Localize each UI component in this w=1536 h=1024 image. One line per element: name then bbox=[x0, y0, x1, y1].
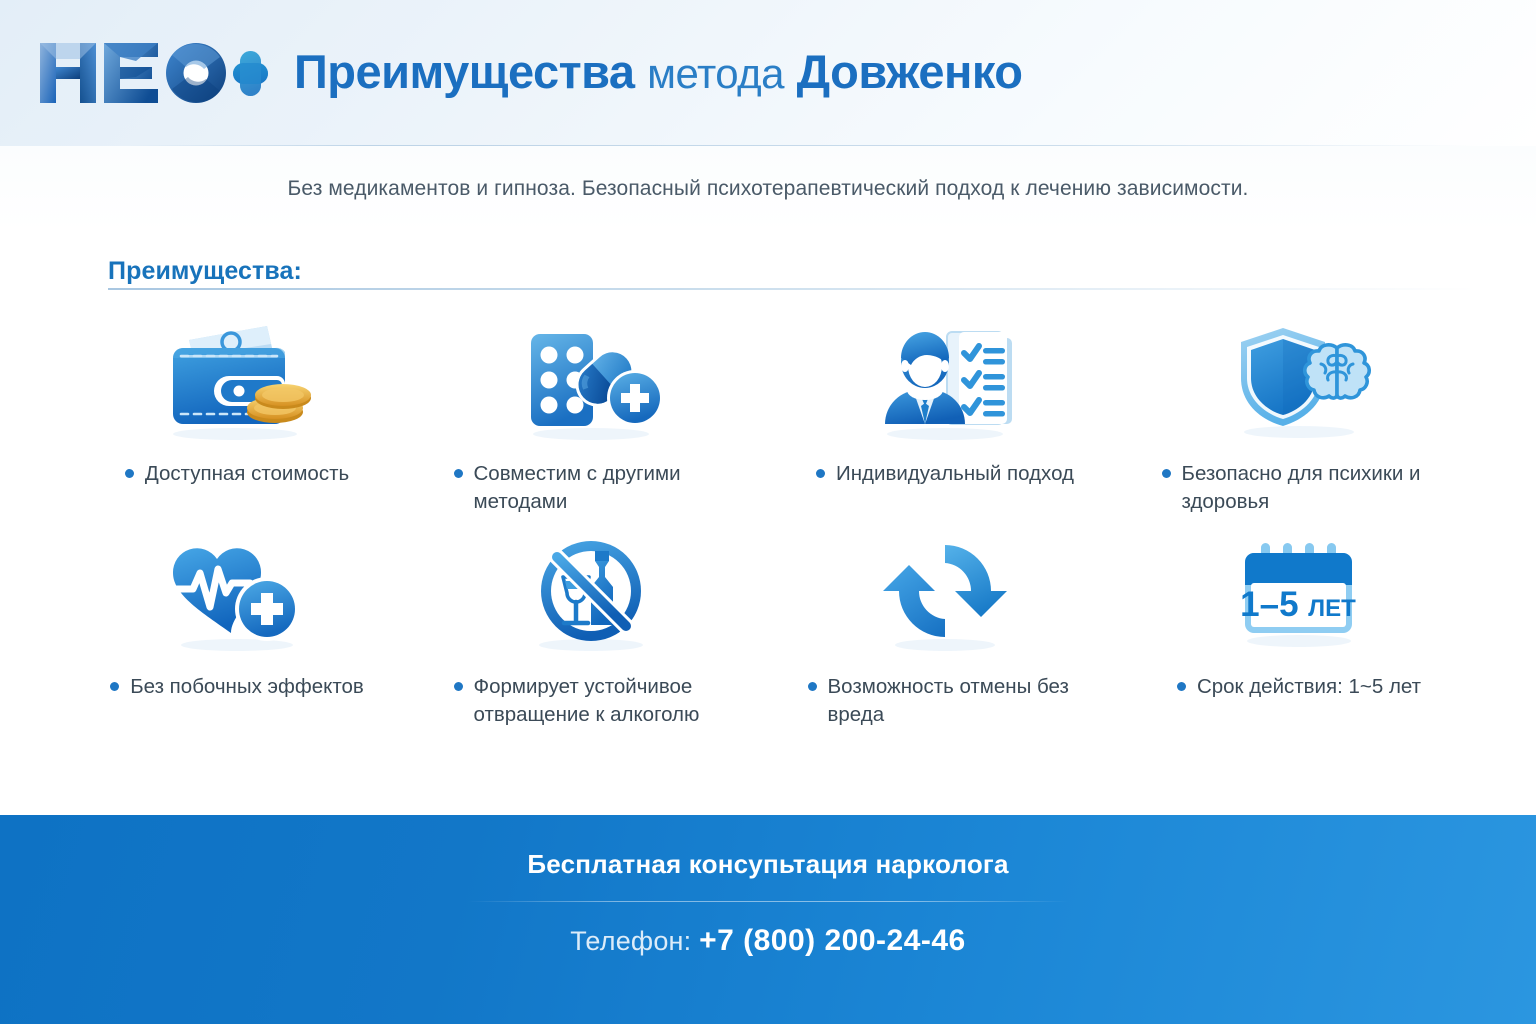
footer-divider bbox=[468, 901, 1068, 902]
benefit-text: Доступная стоимость bbox=[145, 460, 349, 488]
benefit-icon-wrap bbox=[863, 316, 1028, 448]
subtitle-text: Без медикаментов и гипноза. Безопасный п… bbox=[288, 177, 1249, 201]
benefit-label: Доступная стоимость bbox=[66, 460, 408, 488]
title-part-3: Довженко bbox=[797, 45, 1023, 98]
bullet-icon bbox=[454, 682, 463, 691]
no-alcohol-icon bbox=[509, 535, 674, 655]
wallet-coins-icon bbox=[155, 322, 320, 442]
benefit-label: Формирует устойчивое отвращение к алкого… bbox=[420, 673, 762, 728]
benefit-text: Формирует устойчивое отвращение к алкого… bbox=[474, 673, 729, 728]
subtitle-band: Без медикаментов и гипноза. Безопасный п… bbox=[0, 146, 1536, 232]
pills-capsule-cross-icon bbox=[509, 322, 674, 442]
refresh-arrows-icon bbox=[863, 535, 1028, 655]
brand-logo bbox=[36, 37, 268, 109]
header: Преимущества метода Довженко bbox=[0, 0, 1536, 146]
benefit-item: Безопасно для психики и здоровья bbox=[1122, 316, 1476, 515]
benefit-item: Формирует устойчивое отвращение к алкого… bbox=[414, 529, 768, 728]
section-title: Преимущества: bbox=[60, 257, 302, 290]
bullet-icon bbox=[808, 682, 817, 691]
benefit-text: Возможность отмены без вреда bbox=[828, 673, 1083, 728]
calendar-icon: 1–5 ЛЕТ bbox=[1217, 535, 1382, 655]
benefit-icon-wrap: 1–5 ЛЕТ bbox=[1217, 529, 1382, 661]
benefit-item: Доступная стоимость bbox=[60, 316, 414, 515]
benefit-text: Срок действия: 1~5 лет bbox=[1197, 673, 1421, 701]
main-content: Преимущества: bbox=[0, 232, 1536, 815]
benefits-grid: Доступная стоимость bbox=[60, 316, 1476, 729]
benefit-label: Индивидуальный подход bbox=[774, 460, 1116, 488]
phone-number[interactable]: +7 (800) 200-24-46 bbox=[699, 924, 966, 957]
bullet-icon bbox=[816, 469, 825, 478]
benefit-label: Безопасно для психики и здоровья bbox=[1128, 460, 1470, 515]
benefit-icon-wrap bbox=[155, 529, 320, 661]
benefit-item: Без побочных эффектов bbox=[60, 529, 414, 728]
page-title: Преимущества метода Довженко bbox=[294, 48, 1022, 99]
bullet-icon bbox=[125, 469, 134, 478]
benefit-icon-wrap bbox=[863, 529, 1028, 661]
neo-plus-logo-icon bbox=[36, 37, 268, 109]
benefit-item: Индивидуальный подход bbox=[768, 316, 1122, 515]
bullet-icon bbox=[454, 469, 463, 478]
benefit-item: Совместим с другими методами bbox=[414, 316, 768, 515]
benefit-icon-wrap bbox=[155, 316, 320, 448]
benefit-text: Индивидуальный подход bbox=[836, 460, 1074, 488]
bullet-icon bbox=[1162, 469, 1171, 478]
benefit-label: Возможность отмены без вреда bbox=[774, 673, 1116, 728]
footer-title: Бесплатная консупьтация нарколога bbox=[527, 849, 1008, 880]
benefit-label: Без побочных эффектов bbox=[66, 673, 408, 701]
title-part-1: Преимущества bbox=[294, 45, 635, 98]
heart-pulse-cross-icon bbox=[155, 535, 320, 655]
footer-cta: Бесплатная консупьтация нарколога Телефо… bbox=[0, 815, 1536, 1024]
title-part-2: метода bbox=[647, 50, 784, 97]
infographic-poster: Преимущества метода Довженко Без медикам… bbox=[0, 0, 1536, 1024]
benefit-label: Совместим с другими методами bbox=[420, 460, 762, 515]
phone-label: Телефон: bbox=[570, 926, 691, 956]
bullet-icon bbox=[1177, 682, 1186, 691]
benefit-item: Возможность отмены без вреда bbox=[768, 529, 1122, 728]
benefit-icon-wrap bbox=[509, 316, 674, 448]
doctor-checklist-icon bbox=[863, 322, 1028, 442]
bullet-icon bbox=[110, 682, 119, 691]
benefit-item: 1–5 ЛЕТ Срок действия: 1~5 лет bbox=[1122, 529, 1476, 728]
benefit-text: Безопасно для психики и здоровья bbox=[1182, 460, 1437, 515]
footer-phone: Телефон: +7 (800) 200-24-46 bbox=[570, 924, 966, 958]
section-divider bbox=[108, 288, 1476, 290]
benefit-icon-wrap bbox=[1217, 316, 1382, 448]
benefit-label: Срок действия: 1~5 лет bbox=[1128, 673, 1470, 701]
benefit-icon-wrap bbox=[509, 529, 674, 661]
benefit-text: Без побочных эффектов bbox=[130, 673, 364, 701]
section-header: Преимущества: bbox=[60, 246, 1476, 290]
shield-brain-icon bbox=[1217, 322, 1382, 442]
benefit-text: Совместим с другими методами bbox=[474, 460, 729, 515]
